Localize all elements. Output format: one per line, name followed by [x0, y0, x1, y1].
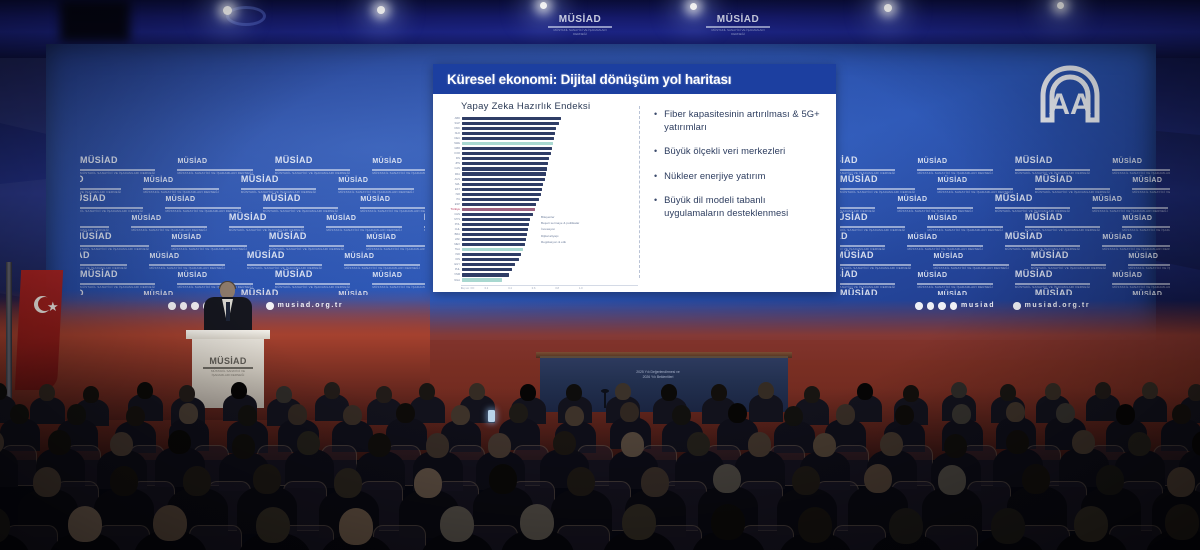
audience-head — [396, 403, 415, 423]
bar-label: JPN — [443, 162, 462, 165]
branding-row: MÜSİADMÜSTAKİL SANAYİCİ VE İŞADAMLARI DE… — [840, 264, 1170, 283]
audience-head — [440, 506, 474, 542]
musiad-logo-text: MÜSİAD — [840, 288, 878, 295]
audience-head — [238, 405, 257, 425]
musiad-logo-text: MÜSİAD — [177, 272, 207, 279]
ceiling-light-ring — [226, 6, 266, 26]
audience-head — [1095, 382, 1111, 399]
ceiling-spotlight — [1057, 2, 1064, 9]
audience-head — [1096, 465, 1124, 495]
audience-head — [758, 382, 774, 399]
branding-row: MÜSİADMÜSTAKİL SANAYİCİ VE İŞADAMLARI DE… — [80, 264, 425, 283]
bullet-text: Fiber kapasitesinin artırılması & 5G+ ya… — [664, 108, 826, 133]
speaker-tie — [226, 302, 230, 321]
audience-head — [488, 433, 511, 457]
branding-row: MÜSİADMÜSTAKİL SANAYİCİ VE İŞADAMLARI DE… — [840, 245, 1170, 264]
musiad-logo-text: MÜSİAD — [247, 250, 285, 260]
bar-label: NZL — [443, 183, 462, 186]
musiad-logo-text: MÜSİAD — [1102, 234, 1132, 241]
globe-icon — [266, 302, 274, 310]
audience-head — [944, 434, 967, 458]
bar — [462, 213, 533, 216]
musiad-logo-text: MÜSİAD — [1132, 291, 1162, 295]
branding-row: MÜSİADMÜSTAKİL SANAYİCİ VE İŞADAMLARI DE… — [80, 207, 425, 226]
musiad-logo-text: MÜSİAD — [1112, 272, 1142, 279]
musiad-logo-text: MÜSİAD — [424, 212, 425, 222]
audience-head — [414, 468, 442, 498]
musiad-logo-text: MÜSİAD — [840, 250, 874, 260]
musiad-logo-text: MÜSİAD — [1128, 253, 1158, 260]
musiad-logo-text: MÜSİAD — [80, 193, 106, 203]
branding-row: MÜSİADMÜSTAKİL SANAYİCİ VE İŞADAMLARI DE… — [80, 169, 425, 188]
ceiling-spotlight — [884, 4, 892, 12]
audience-head — [10, 404, 29, 424]
audience-head — [1006, 402, 1025, 422]
bar-label: ABD — [443, 117, 462, 120]
head-table-logo-right-text: MÜSİAD — [706, 14, 770, 25]
audience-head — [168, 430, 191, 454]
musiad-logo: MÜSİADMÜSTAKİL SANAYİCİ VE İŞADAMLARI DE… — [840, 283, 915, 295]
audience-head — [836, 404, 855, 424]
audience-head — [804, 386, 820, 403]
audience-head — [952, 404, 971, 424]
musiad-logo-text: MÜSİAD — [366, 234, 396, 241]
podium-logo: MÜSİAD MÜSTAKİL SANAYİCİ VE İŞADAMLARI D… — [203, 356, 253, 377]
musiad-logo-text: MÜSİAD — [1015, 155, 1053, 165]
branding-row: MÜSİADMÜSTAKİL SANAYİCİ VE İŞADAMLARI DE… — [840, 169, 1170, 188]
audience-head — [276, 386, 292, 403]
bar — [462, 157, 549, 160]
x-axis-tick: 0.6 — [532, 287, 536, 290]
audience-head — [1072, 430, 1095, 454]
globe-icon — [1013, 302, 1021, 310]
audience-head — [253, 464, 281, 494]
musiad-logo-text: MÜSİAD — [840, 269, 858, 279]
bar — [462, 208, 535, 211]
audience-head — [179, 403, 198, 423]
audience-head — [451, 405, 470, 425]
musiad-logo-text: MÜSİAD — [80, 174, 84, 184]
audience-head — [553, 431, 576, 455]
bar — [462, 203, 536, 206]
musiad-logo-text: MÜSİAD — [917, 158, 947, 165]
ceiling-spotlight — [540, 2, 547, 9]
bar — [462, 253, 521, 256]
instagram-icon — [938, 302, 946, 310]
musiad-logo-text: MÜSİAD — [995, 193, 1033, 203]
bar-label: CAN — [443, 167, 462, 170]
slide-body: Yapay Zeka Hazırlık Endeksi ABDSGPDNKNLD… — [433, 94, 836, 292]
bullet-item: •Büyük ölçekli veri merkezleri — [654, 145, 826, 158]
bar-label: CHL — [443, 228, 462, 231]
audience-head — [615, 383, 631, 400]
x-axis-tick: 0.4 — [508, 287, 512, 290]
bar — [462, 183, 543, 186]
musiad-logo-text: MÜSİAD — [917, 272, 947, 279]
audience-head — [713, 464, 741, 494]
audience-head — [343, 405, 362, 425]
bullet-item: •Fiber kapasitesinin artırılması & 5G+ y… — [654, 108, 826, 133]
bar-label: EST — [443, 188, 462, 191]
bullet-text: Nükleer enerjiye yatırım — [664, 170, 765, 183]
bar — [462, 178, 545, 181]
bar — [462, 263, 515, 266]
audience-head — [857, 383, 873, 400]
branding-backdrop-left: MÜSİADMÜSTAKİL SANAYİCİ VE İŞADAMLARI DE… — [80, 150, 425, 295]
website-text: musiad.org.tr — [278, 302, 344, 309]
audience-head — [813, 433, 836, 457]
bar — [462, 238, 526, 241]
musiad-logo-text: MÜSİAD — [1015, 269, 1053, 279]
audience-head — [864, 464, 892, 494]
facebook-icon — [168, 302, 176, 310]
head-table-logo-left-text: MÜSİAD — [548, 14, 612, 25]
legend-item: Regülasyon & etik — [541, 239, 579, 245]
instagram-icon — [191, 302, 199, 310]
bar — [462, 127, 556, 130]
conference-hall-scene: MÜSİADMÜSTAKİL SANAYİCİ VE İŞADAMLARI DE… — [0, 0, 1200, 550]
musiad-logo-text: MÜSİAD — [1025, 212, 1063, 222]
musiad-logo-text: MÜSİAD — [372, 158, 402, 165]
audience-head — [68, 506, 102, 542]
branding-row: MÜSİADMÜSTAKİL SANAYİCİ VE İŞADAMLARI DE… — [80, 245, 425, 264]
slide-divider — [639, 106, 640, 278]
bullet-marker-icon: • — [654, 108, 657, 133]
branding-row: MÜSİADMÜSTAKİL SANAYİCİ VE İŞADAMLARI DE… — [840, 150, 1170, 169]
audience-head — [288, 404, 307, 424]
audience-head — [1165, 504, 1199, 540]
x-axis-tick: 0 — [461, 287, 462, 290]
x-axis-tick: 0.8 — [555, 287, 559, 290]
audience-head — [672, 405, 691, 425]
musiad-logo-text: MÜSİAD — [80, 269, 118, 279]
audience-head — [324, 382, 340, 399]
audience-head — [567, 467, 595, 497]
flag-star-icon: ★ — [47, 300, 59, 313]
bar — [462, 162, 548, 165]
bar — [462, 228, 528, 231]
audience-head — [232, 434, 255, 458]
audience-head — [426, 433, 449, 457]
audience-head — [938, 465, 966, 495]
musiad-logo-text: MÜSİAD — [937, 291, 967, 295]
website-text: musiad.org.tr — [1025, 302, 1091, 309]
overlay-strip-right: musiadmusiad.org.tr — [915, 302, 1090, 310]
head-table-logo-right: MÜSİAD MÜSTAKİL SANAYİCİ VE İŞADAMLARI D… — [706, 14, 770, 36]
bar-label: NLD — [443, 132, 462, 135]
slide-title-bar: Küresel ekonomi: Dijital dönüşüm yol har… — [433, 64, 836, 94]
bar-label: CHN — [443, 213, 462, 216]
audience-head — [48, 430, 71, 454]
audience-head — [991, 508, 1025, 544]
musiad-logo-text: MÜSİAD — [1122, 215, 1152, 222]
slide-title-text: Küresel ekonomi: Dijital dönüşüm yol har… — [447, 72, 731, 87]
bar-label: FIN — [443, 157, 462, 160]
musiad-logo-text: MÜSİAD — [372, 272, 402, 279]
bullet-marker-icon: • — [654, 170, 657, 183]
audience-head — [1022, 464, 1050, 494]
audience-head — [33, 467, 61, 497]
audience-head — [687, 432, 710, 456]
bar — [462, 132, 555, 135]
bullet-item: •Büyük dil modeli tabanlı uygulamaların … — [654, 194, 826, 219]
audience-head — [622, 504, 656, 540]
musiad-logo-text: MÜSİAD — [360, 196, 390, 203]
bullet-item: •Nükleer enerjiye yatırım — [654, 170, 826, 183]
audience-head — [1045, 383, 1061, 400]
bar-label: NGA — [443, 279, 462, 282]
audience-head — [784, 406, 803, 426]
musiad-logo-text: MÜSİAD — [326, 215, 356, 222]
audience-head — [469, 383, 485, 400]
branding-row: MÜSİADMÜSTAKİL SANAYİCİ VE İŞADAMLARI DE… — [840, 207, 1170, 226]
audience-head — [566, 384, 582, 401]
audience-head — [641, 467, 669, 497]
musiad-logo-text: MÜSİAD — [171, 234, 201, 241]
podium-top — [186, 330, 270, 339]
audience-head — [231, 382, 247, 399]
audience-head — [39, 384, 55, 401]
audience-head — [67, 404, 86, 424]
bar — [462, 147, 552, 150]
audience-head — [297, 431, 320, 455]
musiad-logo-text: MÜSİAD — [338, 177, 368, 184]
bar-label: SWE — [443, 142, 462, 145]
audience-head — [153, 505, 187, 541]
bar-label: MEX — [443, 243, 462, 246]
musiad-logo: MÜSİADMÜSTAKİL SANAYİCİ VE İŞADAMLARI DE… — [1035, 283, 1110, 295]
musiad-logo-text: MÜSİAD — [1035, 174, 1073, 184]
musiad-logo-text: MÜSİAD — [1031, 250, 1069, 260]
chart-pane: Yapay Zeka Hazırlık Endeksi ABDSGPDNKNLD… — [433, 94, 638, 292]
musiad-logo-text: MÜSİAD — [933, 253, 963, 260]
bar — [462, 248, 523, 251]
musiad-logo-text: MÜSİAD — [1035, 288, 1073, 295]
musiad-logo-text: MÜSİAD — [269, 231, 307, 241]
bar-label: POL — [443, 223, 462, 226]
bar — [462, 137, 554, 140]
bar — [462, 223, 529, 226]
audience-head — [1172, 404, 1191, 424]
audience-head — [489, 464, 517, 494]
musiad-logo-text: MÜSİAD — [897, 196, 927, 203]
audience-head — [520, 384, 536, 401]
musiad-logo-text: MÜSİAD — [1092, 196, 1122, 203]
musiad-logo-text: MÜSİAD — [177, 158, 207, 165]
audience-head — [339, 508, 373, 544]
x-axis-tick: 0.2 — [485, 287, 489, 290]
head-table-logo-subtext: MÜSTAKİL SANAYİCİ VE İŞADAMLARI DERNEĞİ — [706, 28, 770, 36]
bar-label: AUS — [443, 178, 462, 181]
musiad-logo-text: MÜSİAD — [1005, 231, 1043, 241]
bar-label: MYS — [443, 218, 462, 221]
audience-head — [1000, 384, 1016, 401]
musiad-logo-text: MÜSİAD — [907, 234, 937, 241]
branding-row: MÜSİADMÜSTAKİL SANAYİCİ VE İŞADAMLARI DE… — [840, 226, 1170, 245]
x-axis-tick: 1.0 — [579, 287, 583, 290]
head-table-logo-subtext: MÜSTAKİL SANAYİCİ VE İŞADAMLARI DERNEĞİ — [548, 28, 612, 36]
audience-head — [376, 386, 392, 403]
audience-head — [520, 504, 554, 540]
bar-label: KOR — [443, 152, 462, 155]
audience-head — [880, 432, 903, 456]
branding-row: MÜSİADMÜSTAKİL SANAYİCİ VE İŞADAMLARI DE… — [80, 150, 425, 169]
musiad-logo-text: MÜSİAD — [840, 212, 868, 222]
audience-head — [895, 405, 914, 425]
bar — [462, 188, 542, 191]
turkish-flag — [15, 270, 63, 390]
musiad-logo-text: MÜSİAD — [275, 155, 313, 165]
bar-label: ISR — [443, 193, 462, 196]
musiad-logo-text: MÜSİAD — [131, 215, 161, 222]
musiad-logo-text: MÜSİAD — [143, 177, 173, 184]
bar-label: PHL — [443, 268, 462, 271]
audience-head — [256, 507, 290, 543]
audience-head — [334, 468, 362, 498]
musiad-logo: MÜSİADMÜSTAKİL SANAYİCİ VE İŞADAMLARI DE… — [1132, 283, 1170, 295]
bar-label: SGP — [443, 122, 462, 125]
chart-source-note: Kaynak: IMF — [461, 287, 474, 290]
head-table-logo-left: MÜSİAD MÜSTAKİL SANAYİCİ VE İŞADAMLARI D… — [548, 14, 612, 36]
audience-head — [179, 385, 195, 402]
bar-label: DEU — [443, 137, 462, 140]
bar-label: EGY — [443, 263, 462, 266]
audience-head — [792, 466, 820, 496]
audience-head — [565, 406, 584, 426]
twitter-icon — [927, 302, 935, 310]
audience-head — [1142, 382, 1158, 399]
bar — [462, 218, 530, 221]
ceiling-spotlight — [377, 6, 385, 14]
musiad-logo-text: MÜSİAD — [840, 174, 878, 184]
musiad-logo-text: MÜSİAD — [149, 253, 179, 260]
bullet-marker-icon: • — [654, 145, 657, 158]
bar-chart: ABDSGPDNKNLDDEUSWEGBRKORFINJPNCANFRAAUSN… — [461, 116, 638, 283]
bullet-list: •Fiber kapasitesinin artırılması & 5G+ y… — [638, 94, 836, 292]
bar — [462, 167, 547, 170]
bar-label: FRA — [443, 173, 462, 176]
audience-head — [621, 432, 644, 456]
musiad-logo-text: MÜSİAD — [165, 196, 195, 203]
audience-head — [368, 433, 391, 457]
audience-head — [509, 403, 528, 423]
musiad-logo-text: MÜSİAD — [840, 231, 848, 241]
bar-label: THA — [443, 248, 462, 251]
musiad-logo-text: MÜSİAD — [1112, 158, 1142, 165]
bullet-marker-icon: • — [654, 194, 657, 219]
audience-head — [748, 432, 771, 456]
chart-title: Yapay Zeka Hazırlık Endeksi — [461, 101, 638, 112]
branding-backdrop-right: MÜSİADMÜSTAKİL SANAYİCİ VE İŞADAMLARI DE… — [840, 150, 1170, 295]
bar — [462, 243, 525, 246]
youtube-icon — [950, 302, 958, 310]
ceiling-shadow — [60, 0, 130, 42]
audience-head — [903, 385, 919, 402]
bar-label: DNK — [443, 127, 462, 130]
audience-head — [126, 406, 145, 426]
ceiling-spotlight — [223, 6, 232, 15]
chart-x-axis: Kaynak: IMF 00.20.40.60.81.0 — [461, 285, 638, 295]
musiad-logo-text: MÜSİAD — [927, 215, 957, 222]
branding-row: MÜSİADMÜSTAKİL SANAYİCİ VE İŞADAMLARI DE… — [840, 188, 1170, 207]
bar — [462, 278, 502, 281]
bar-label: IND — [443, 253, 462, 256]
musiad-logo: MÜSİADMÜSTAKİL SANAYİCİ VE İŞADAMLARI DE… — [937, 283, 1012, 295]
chart-legend: BileşenlerBeşeri sermaye & politikalarİn… — [541, 214, 579, 245]
bar-label: ESP — [443, 203, 462, 206]
musiad-logo-text: MÜSİAD — [80, 250, 90, 260]
presentation-slide: Küresel ekonomi: Dijital dönüşüm yol har… — [433, 64, 836, 292]
musiad-logo-text: MÜSİAD — [840, 155, 858, 165]
branding-row: MÜSİADMÜSTAKİL SANAYİCİ VE İŞADAMLARI DE… — [840, 283, 1170, 295]
bar-chart-row: NGA — [461, 278, 638, 283]
twitter-icon — [180, 302, 188, 310]
audience-head — [1074, 506, 1108, 542]
podium-logo-text: MÜSİAD — [203, 356, 253, 366]
musiad-logo-text: MÜSİAD — [80, 231, 112, 241]
audience-head — [110, 432, 133, 456]
audience-head — [1056, 403, 1075, 423]
audience-phone-screen — [488, 410, 495, 422]
bar — [462, 268, 512, 271]
audience-head — [661, 384, 677, 401]
bar — [462, 152, 551, 155]
bar-label: VNM — [443, 273, 462, 276]
audience-head — [728, 403, 747, 423]
musiad-logo-text: MÜSİAD — [275, 269, 313, 279]
bar — [462, 142, 553, 145]
bar-label: ITA — [443, 198, 462, 201]
bullet-text: Büyük ölçekli veri merkezleri — [664, 145, 785, 158]
bar-label: GBR — [443, 147, 462, 150]
musiad-logo-text: MÜSİAD — [80, 155, 118, 165]
audience-head — [1167, 467, 1195, 497]
bar-label: IDN — [443, 258, 462, 261]
musiad-logo-text: MÜSİAD — [344, 253, 374, 260]
podium-logo-subtext: MÜSTAKİL SANAYİCİ VE İŞADAMLARI DERNEĞİ — [203, 369, 253, 377]
aa-logo: AA — [1036, 62, 1104, 124]
musiad-logo-text: MÜSİAD — [241, 174, 279, 184]
facebook-icon — [915, 302, 923, 310]
bar — [462, 117, 561, 120]
musiad-logo-text: MÜSİAD — [1132, 177, 1162, 184]
branding-row: MÜSİADMÜSTAKİL SANAYİCİ VE İŞADAMLARI DE… — [80, 188, 425, 207]
bar — [462, 193, 541, 196]
musiad-logo-text: MÜSİAD — [937, 177, 967, 184]
audience-head — [951, 382, 967, 399]
bar-label: BRA — [443, 233, 462, 236]
bullet-text: Büyük dil modeli tabanlı uygulamaların d… — [664, 194, 826, 219]
ceiling-spotlight — [690, 3, 697, 10]
bar — [462, 258, 519, 261]
aa-logo-text: AA — [1048, 88, 1091, 121]
bar — [462, 233, 527, 236]
musiad-logo-text: MÜSİAD — [229, 212, 267, 222]
audience-head — [1188, 384, 1200, 401]
audience-head — [711, 504, 745, 540]
audience-head — [889, 508, 923, 544]
audience-head — [620, 402, 639, 422]
audience-head — [110, 466, 138, 496]
social-handle-text: musiad — [961, 302, 995, 309]
branding-row: MÜSİADMÜSTAKİL SANAYİCİ VE İŞADAMLARI DE… — [80, 226, 425, 245]
overlay-strip-left: musiadmusiad.org.tr — [168, 302, 343, 310]
bar-label: ZAF — [443, 238, 462, 241]
audience-head — [711, 384, 727, 401]
bar-label-highlight: Türkiye — [443, 208, 462, 211]
audience — [0, 378, 1200, 550]
bar — [462, 198, 539, 201]
